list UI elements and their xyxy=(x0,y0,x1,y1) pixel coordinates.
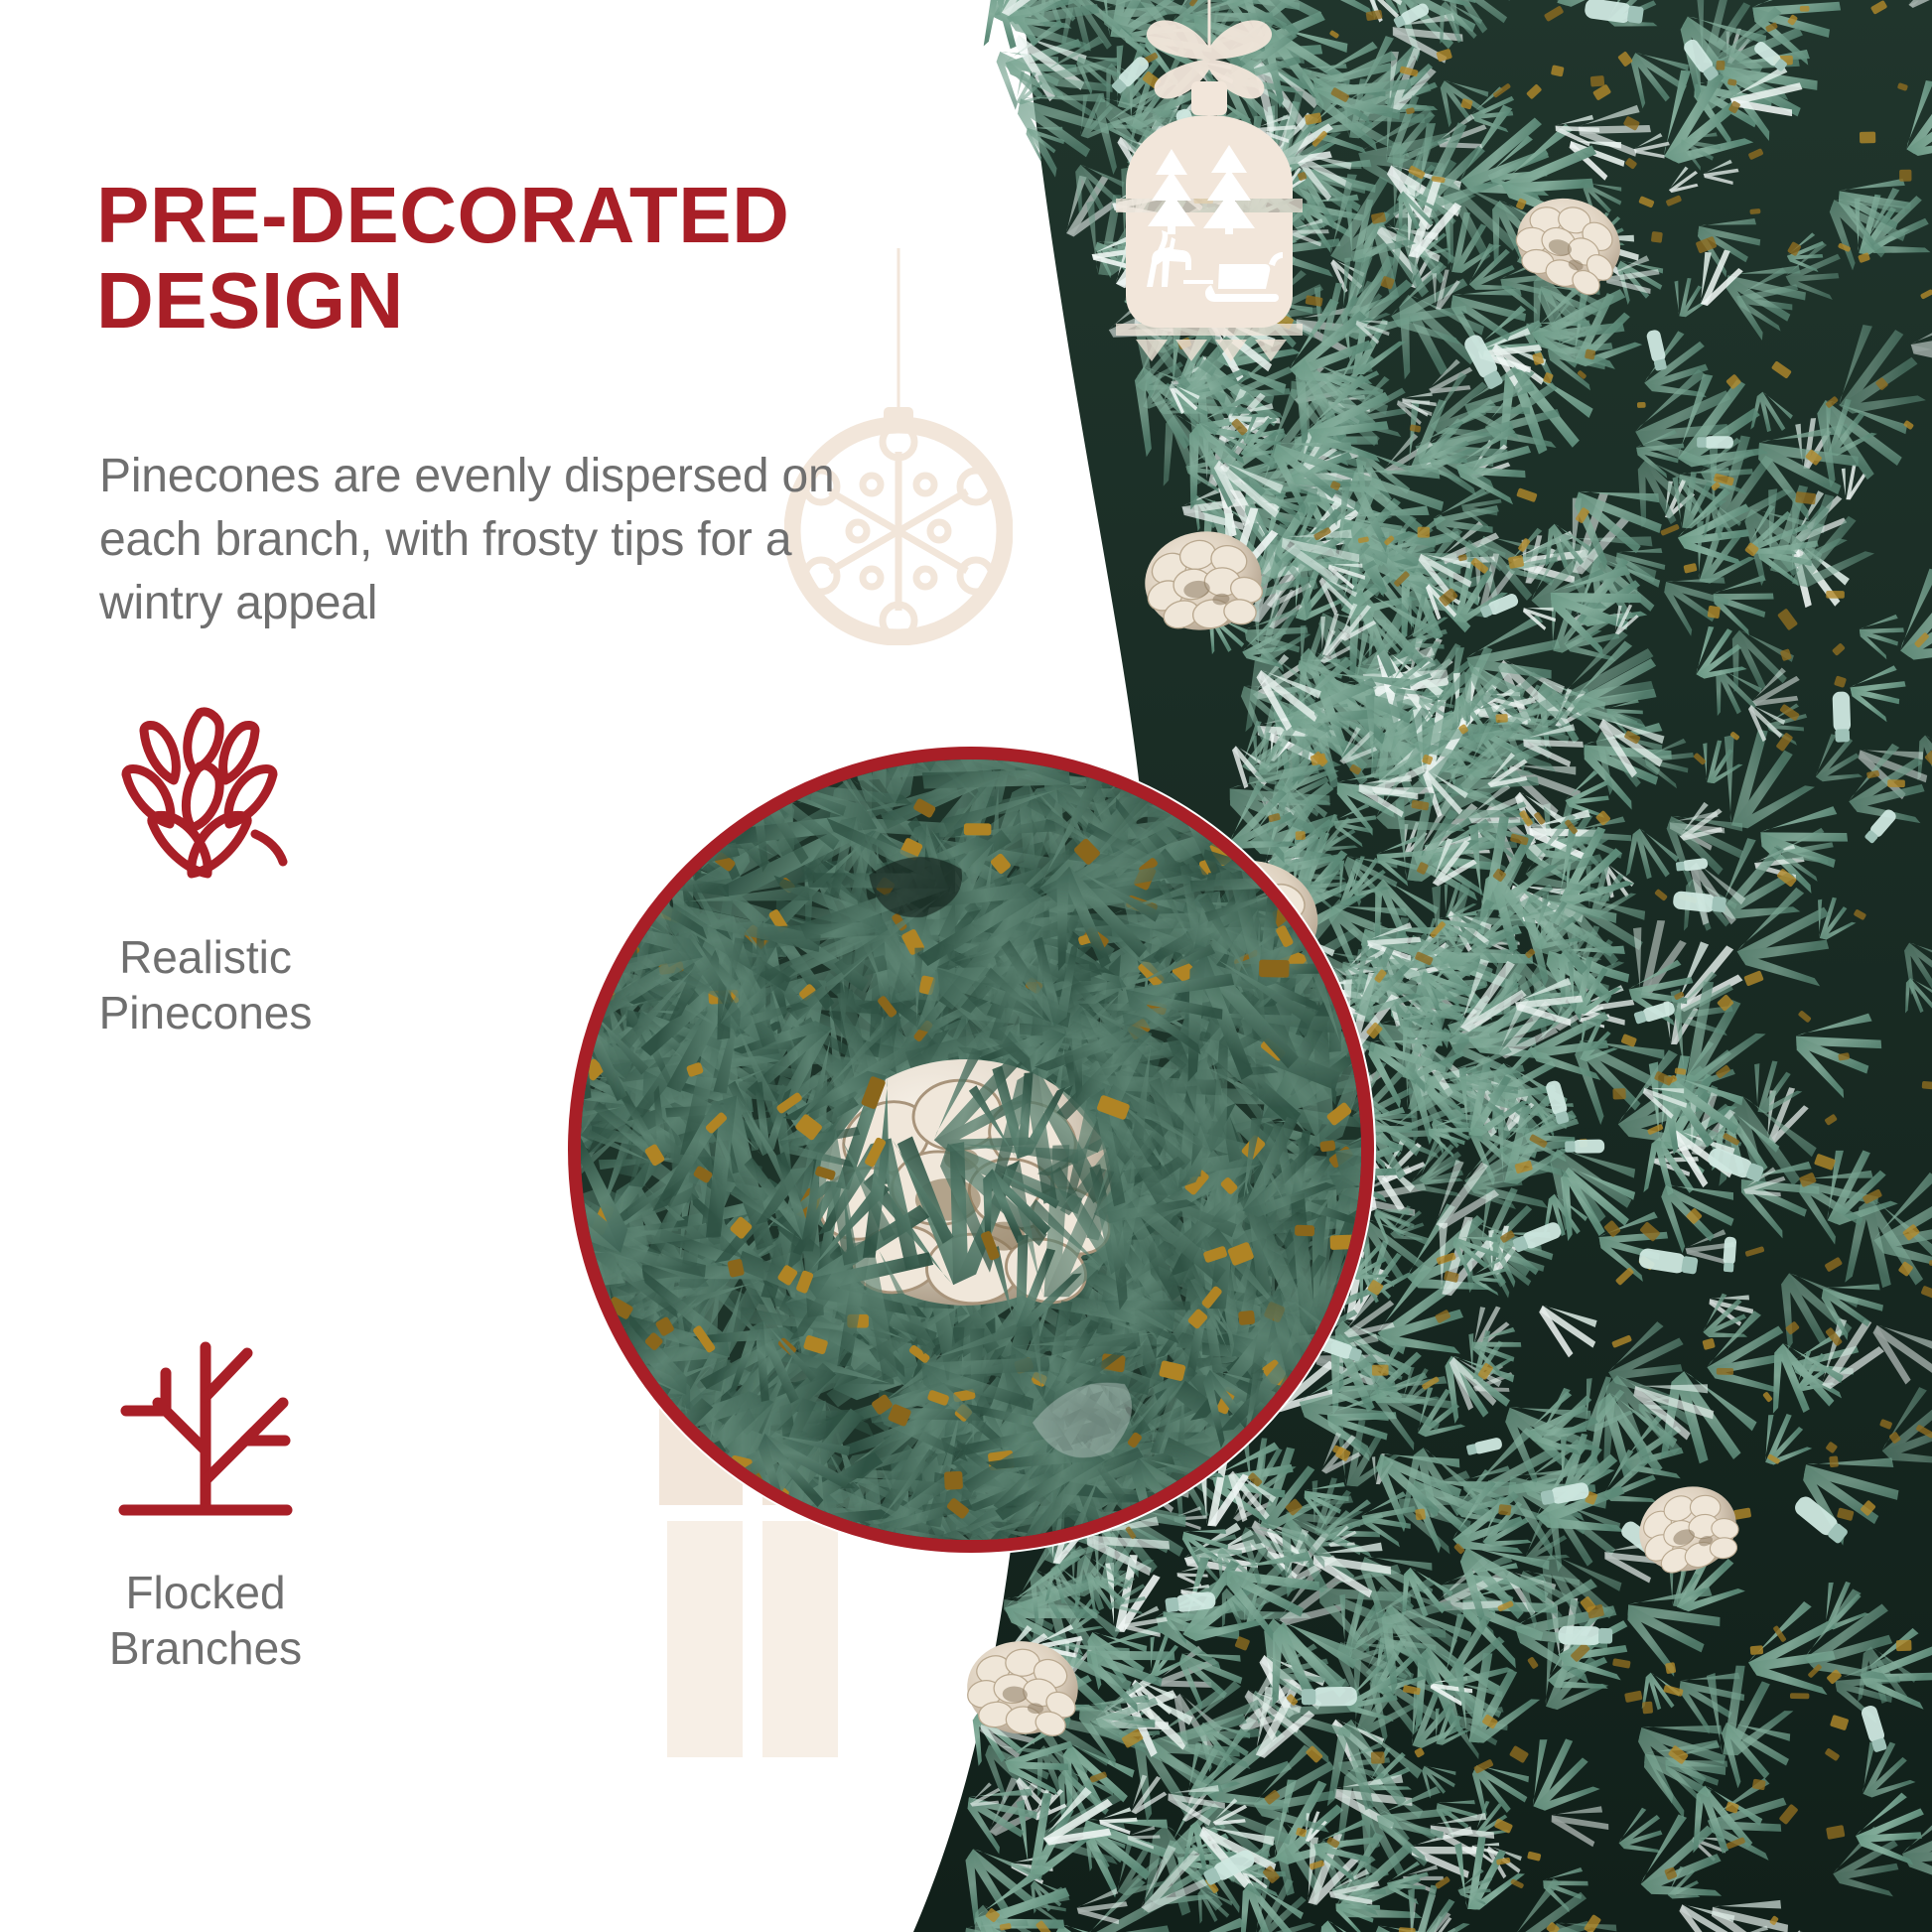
feature-realistic-pinecones: Realistic Pinecones xyxy=(42,695,369,1040)
pinecone-closeup-magnifier xyxy=(568,747,1374,1553)
product-feature-graphic: PRE-DECORATED DESIGN Pinecones are evenl… xyxy=(0,0,1932,1932)
feature-label: Realistic Pinecones xyxy=(42,929,369,1040)
page-title: PRE-DECORATED DESIGN xyxy=(96,173,910,345)
pinecone-icon xyxy=(42,695,369,903)
description-text: Pinecones are evenly dispersed on each b… xyxy=(99,445,884,634)
feature-flocked-branches: Flocked Branches xyxy=(42,1330,369,1676)
callout-photo xyxy=(581,759,1361,1540)
bare-tree-icon xyxy=(42,1330,369,1539)
feature-label: Flocked Branches xyxy=(42,1565,369,1676)
